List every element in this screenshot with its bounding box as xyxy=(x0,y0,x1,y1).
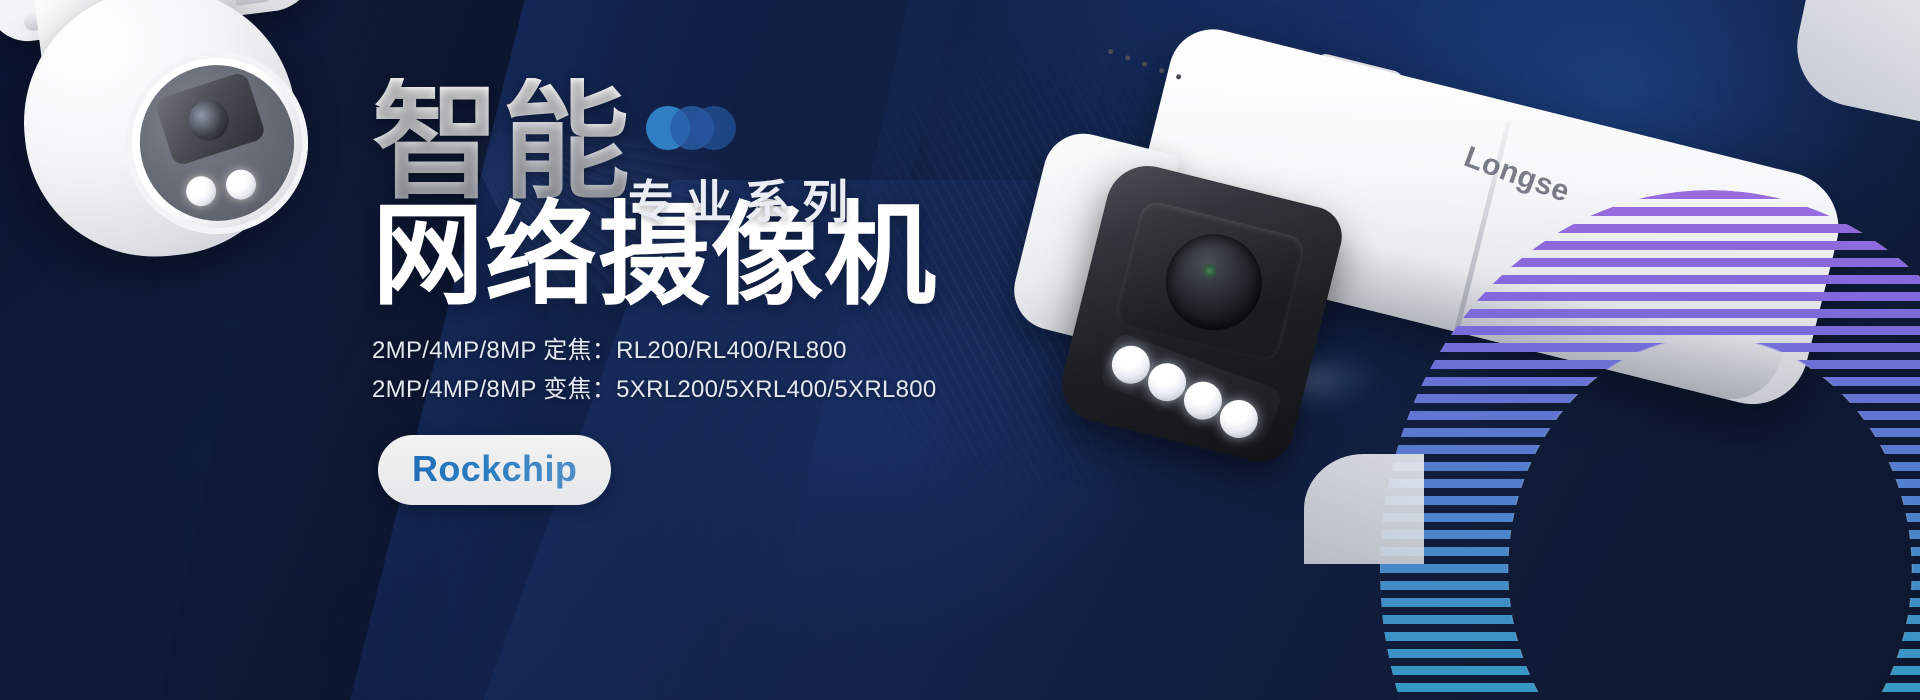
spec-line-fixed-focus: 2MP/4MP/8MP 定焦：RL200/RL400/RL800 xyxy=(372,332,1092,371)
page-title: 智能 xyxy=(372,78,632,209)
bullet-lens-plate xyxy=(1113,199,1307,364)
turret-led-2 xyxy=(222,166,260,204)
decorative-dots-icon xyxy=(646,106,720,152)
series-subtitle: 专业系列 xyxy=(628,166,860,232)
bullet-lens xyxy=(1156,224,1272,340)
product-banner: Longse 智能 专业系列 网络摄像机 2MP/4MP/8MP 定焦：RL20… xyxy=(0,0,1920,700)
turret-lens xyxy=(154,71,267,167)
striped-arc-decoration xyxy=(1340,160,1920,700)
chipset-badge[interactable]: Rockchip xyxy=(378,435,611,505)
headline-row: 智能 专业系列 xyxy=(372,78,1092,209)
chipset-badge-label: Rockchip xyxy=(412,448,577,489)
spec-line-varifocal: 2MP/4MP/8MP 变焦：5XRL200/5XRL400/5XRL800 xyxy=(372,371,1092,410)
copy-block: 智能 专业系列 网络摄像机 2MP/4MP/8MP 定焦：RL200/RL400… xyxy=(372,78,1092,505)
corner-accent-bottom-right xyxy=(1304,454,1424,564)
striped-arc-ring xyxy=(1380,190,1920,700)
turret-led-1 xyxy=(182,172,220,210)
spec-list: 2MP/4MP/8MP 定焦：RL200/RL400/RL800 2MP/4MP… xyxy=(372,332,1092,410)
turret-camera-image xyxy=(0,0,336,284)
dot-3-icon xyxy=(692,106,736,150)
